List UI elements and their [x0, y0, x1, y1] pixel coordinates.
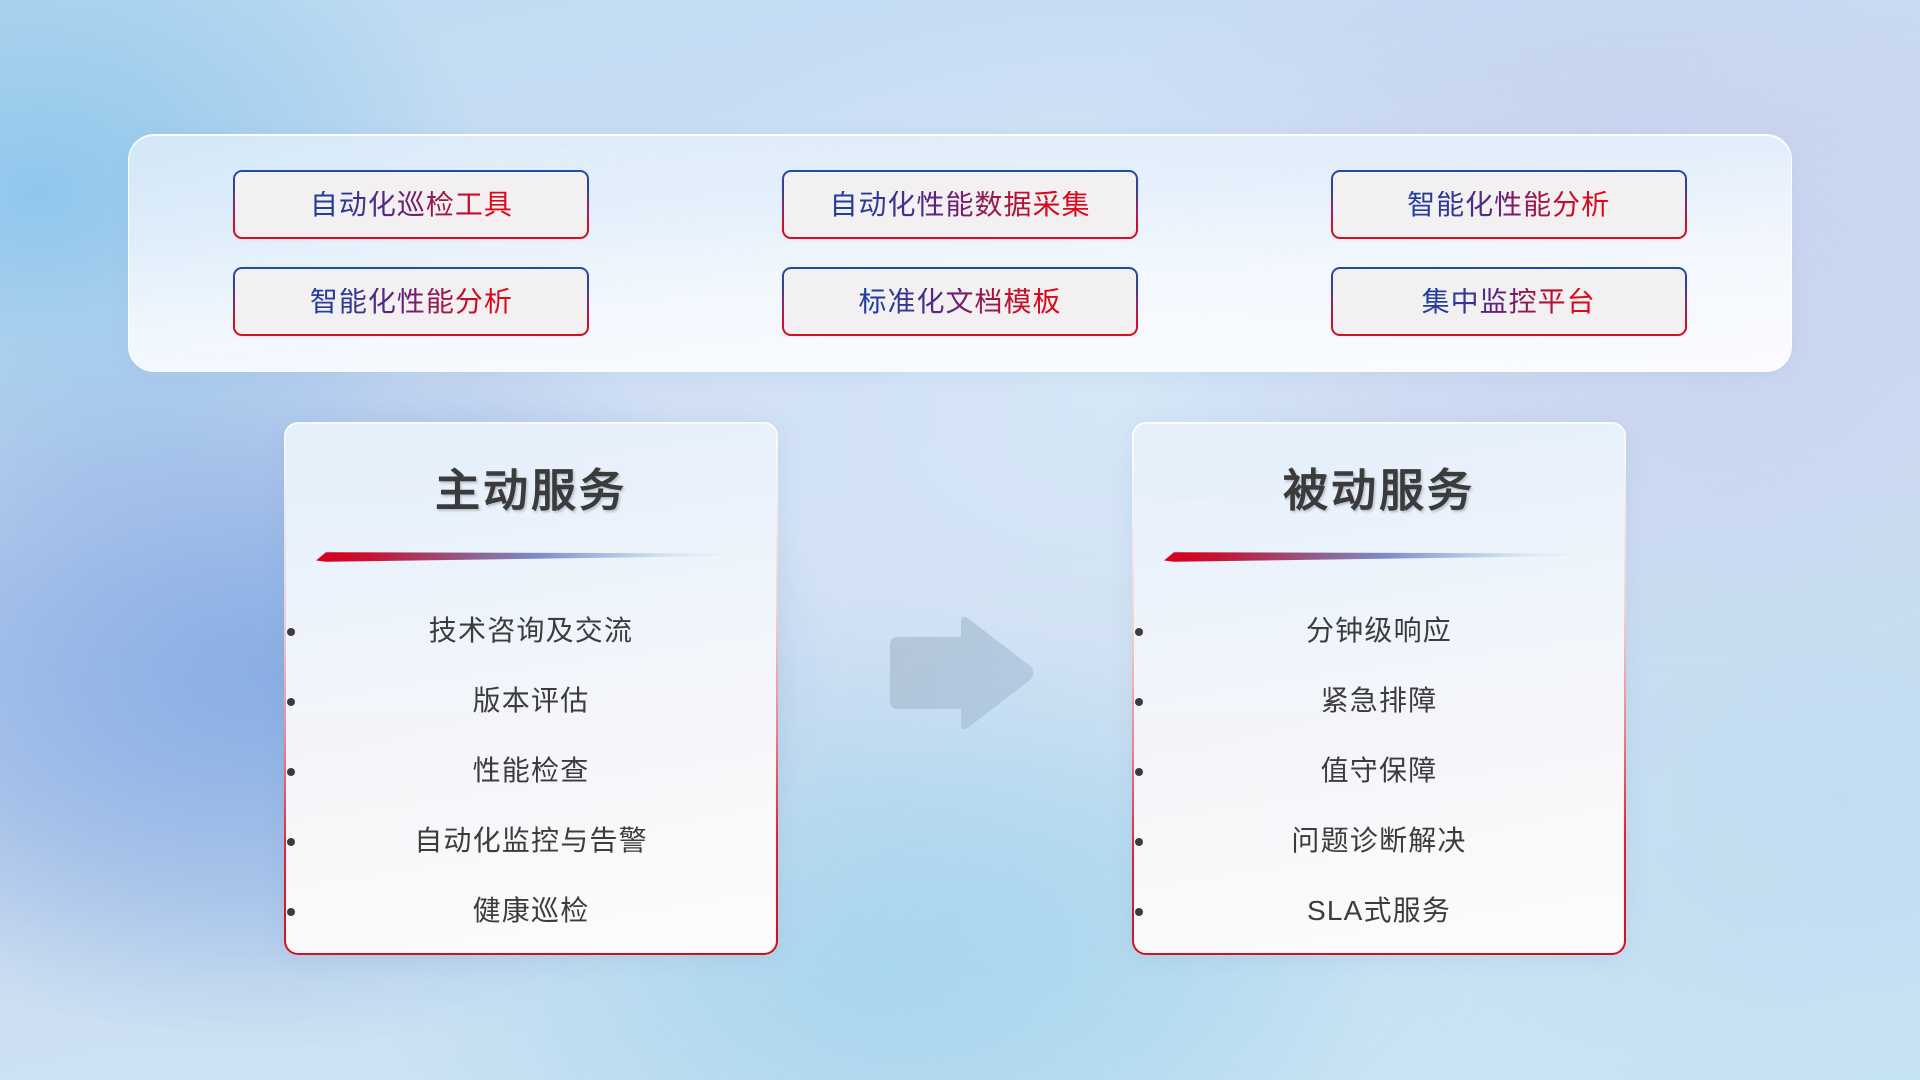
- capability-tag-label: 自动化性能数据采集: [829, 191, 1090, 219]
- service-list-item: 版本评估: [310, 666, 752, 736]
- service-list-item: 紧急排障: [1158, 666, 1600, 736]
- service-list-item: 值守保障: [1158, 736, 1600, 806]
- capability-tag-label: 集中监控平台: [1422, 288, 1596, 316]
- card-title-passive: 被动服务: [1158, 466, 1600, 516]
- service-list-active: 技术咨询及交流 版本评估 性能检查 自动化监控与告警 健康巡检: [310, 596, 752, 946]
- service-list-item: 性能检查: [310, 736, 752, 806]
- capability-tag-label: 智能化性能分析: [1407, 191, 1610, 219]
- card-divider-passive: [1164, 550, 1594, 562]
- capability-tag-label: 自动化巡检工具: [310, 191, 513, 219]
- service-list-item: SLA式服务: [1158, 876, 1600, 946]
- service-card-active: 主动服务 技术咨询及交流 版本评估 性能检查 自动化监控与告警 健康巡检: [284, 422, 778, 955]
- service-list-item: 分钟级响应: [1158, 596, 1600, 666]
- capability-tag[interactable]: 集中监控平台: [1331, 267, 1687, 336]
- capability-tags-panel: 自动化巡检工具 自动化性能数据采集 智能化性能分析 智能化性能分析 标准化文档模…: [128, 134, 1792, 372]
- service-list-item: 自动化监控与告警: [310, 806, 752, 876]
- capability-tags-grid: 自动化巡检工具 自动化性能数据采集 智能化性能分析 智能化性能分析 标准化文档模…: [129, 135, 1791, 371]
- capability-tag[interactable]: 自动化性能数据采集: [782, 170, 1138, 239]
- capability-tag[interactable]: 自动化巡检工具: [233, 170, 589, 239]
- flow-arrow-right-icon: [880, 612, 1038, 734]
- capability-tag[interactable]: 智能化性能分析: [233, 267, 589, 336]
- service-list-item: 健康巡检: [310, 876, 752, 946]
- card-title-active: 主动服务: [310, 466, 752, 516]
- service-list-item: 技术咨询及交流: [310, 596, 752, 666]
- service-list-item: 问题诊断解决: [1158, 806, 1600, 876]
- card-divider-active: [316, 550, 746, 562]
- capability-tag[interactable]: 标准化文档模板: [782, 267, 1138, 336]
- capability-tag-label: 标准化文档模板: [858, 288, 1061, 316]
- capability-tag-label: 智能化性能分析: [310, 288, 513, 316]
- capability-tag[interactable]: 智能化性能分析: [1331, 170, 1687, 239]
- service-list-passive: 分钟级响应 紧急排障 值守保障 问题诊断解决 SLA式服务: [1158, 596, 1600, 946]
- service-card-passive: 被动服务 分钟级响应 紧急排障 值守保障 问题诊断解决 SLA式服务: [1132, 422, 1626, 955]
